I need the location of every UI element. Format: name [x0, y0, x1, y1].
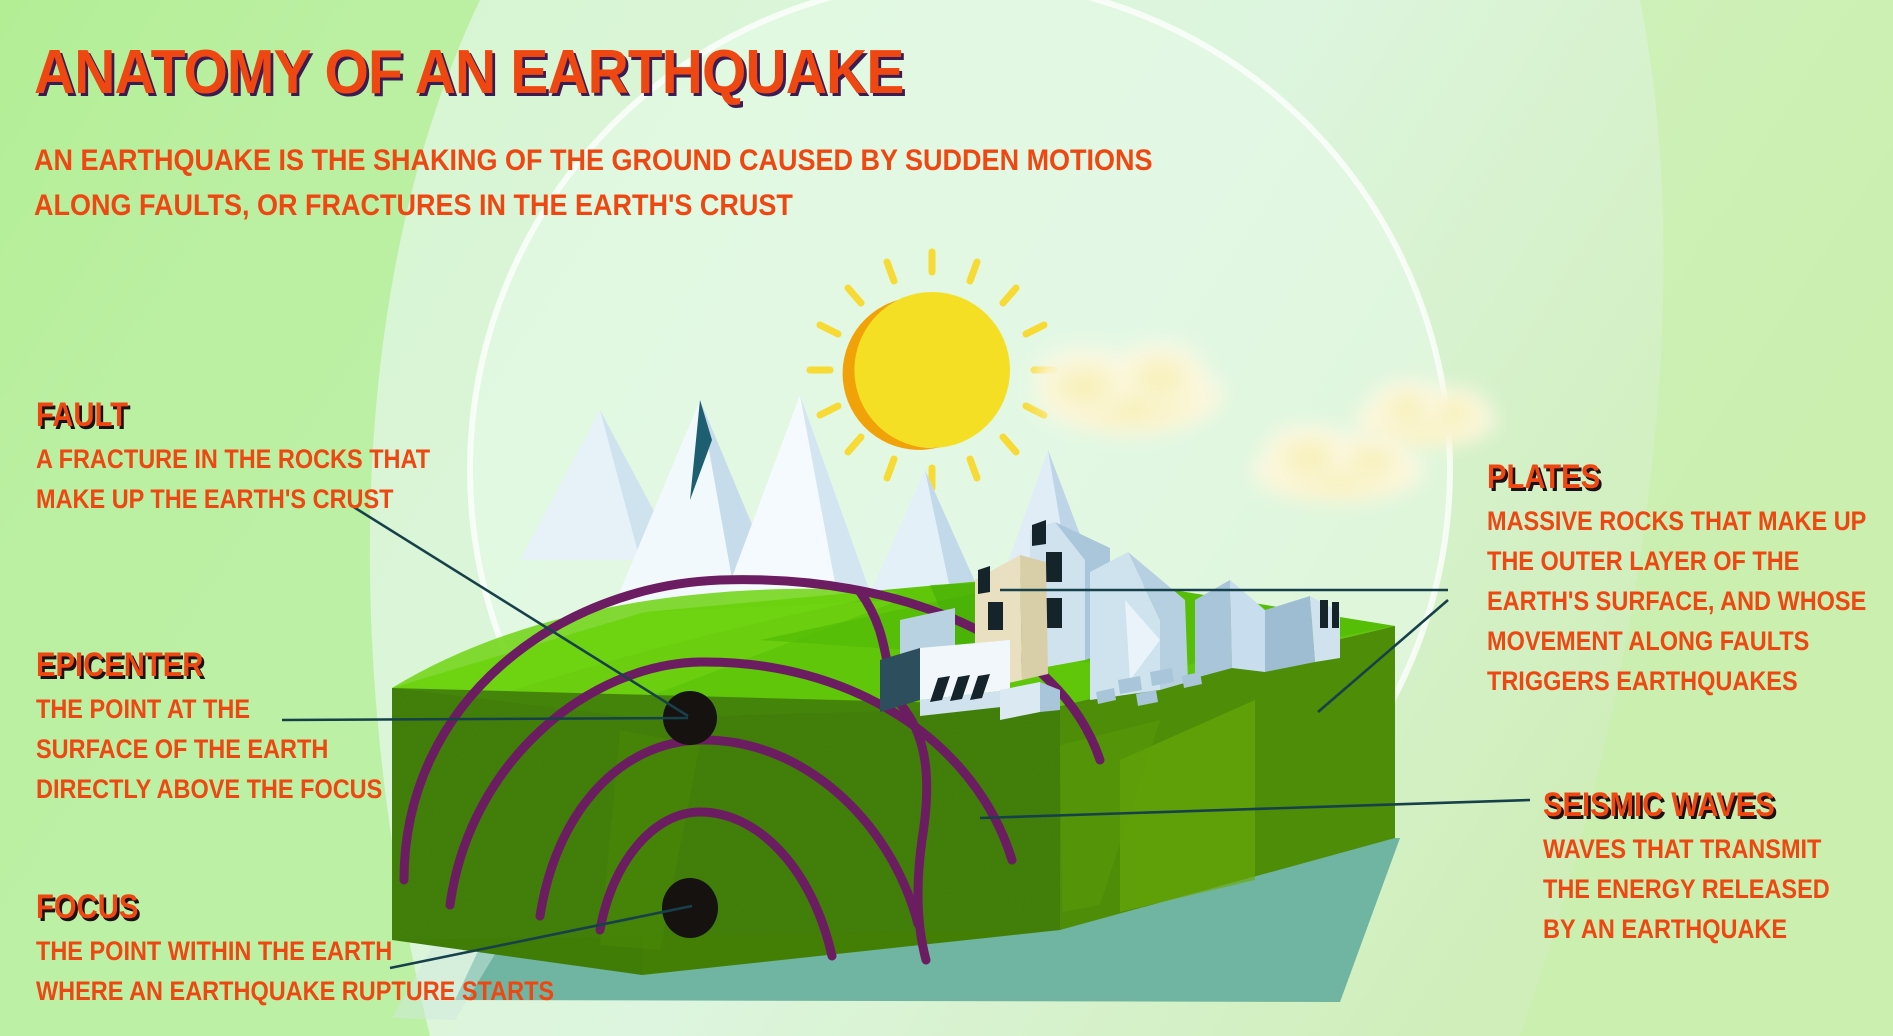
callout-fault-line-2: MAKE UP THE EARTH'S CRUST — [36, 480, 430, 520]
callout-plates-heading: PLATES — [1487, 460, 1862, 494]
callout-seismic-waves-body: WAVES THAT TRANSMIT THE ENERGY RELEASED … — [1543, 830, 1830, 950]
callout-plates-line-3: EARTH'S SURFACE, AND WHOSE — [1487, 582, 1866, 622]
callout-plates: PLATES MASSIVE ROCKS THAT MAKE UP THE OU… — [1487, 460, 1893, 702]
callout-fault-line-1: A FRACTURE IN THE ROCKS THAT — [36, 440, 430, 480]
callout-focus-heading: FOCUS — [36, 890, 548, 924]
callout-epicenter-line-1: THE POINT AT THE — [36, 690, 382, 730]
page-title: ANATOMY OF AN EARTHQUAKE — [34, 42, 903, 104]
callout-seismic-waves-line-1: WAVES THAT TRANSMIT — [1543, 830, 1830, 870]
callout-epicenter: EPICENTER THE POINT AT THE SURFACE OF TH… — [36, 648, 434, 810]
page-subtitle-line1: AN EARTHQUAKE IS THE SHAKING OF THE GROU… — [34, 140, 1153, 183]
callout-plates-body: MASSIVE ROCKS THAT MAKE UP THE OUTER LAY… — [1487, 502, 1866, 702]
callout-fault-body: A FRACTURE IN THE ROCKS THAT MAKE UP THE… — [36, 440, 430, 520]
cloud-icon — [1033, 340, 1225, 435]
callout-focus-line-2: WHERE AN EARTHQUAKE RUPTURE STARTS — [36, 972, 554, 1012]
focus-dot — [662, 878, 718, 938]
callout-fault-heading: FAULT — [36, 398, 426, 432]
callout-seismic-waves-heading: SEISMIC WAVES — [1543, 788, 1826, 822]
page-subtitle-line2: ALONG FAULTS, OR FRACTURES IN THE EARTH'… — [34, 185, 793, 228]
callout-fault: FAULT A FRACTURE IN THE ROCKS THAT MAKE … — [36, 398, 489, 520]
callout-plates-line-4: MOVEMENT ALONG FAULTS — [1487, 622, 1866, 662]
callout-plates-line-5: TRIGGERS EARTHQUAKES — [1487, 662, 1866, 702]
callout-epicenter-line-2: SURFACE OF THE EARTH — [36, 730, 382, 770]
callout-epicenter-line-3: DIRECTLY ABOVE THE FOCUS — [36, 770, 382, 810]
callout-focus-line-1: THE POINT WITHIN THE EARTH — [36, 932, 554, 972]
callout-seismic-waves: SEISMIC WAVES WAVES THAT TRANSMIT THE EN… — [1543, 788, 1873, 950]
callout-epicenter-heading: EPICENTER — [36, 648, 378, 682]
callout-focus-body: THE POINT WITHIN THE EARTH WHERE AN EART… — [36, 932, 554, 1012]
callout-seismic-waves-line-3: BY AN EARTHQUAKE — [1543, 910, 1830, 950]
callout-seismic-waves-line-2: THE ENERGY RELEASED — [1543, 870, 1830, 910]
callout-plates-line-2: THE OUTER LAYER OF THE — [1487, 542, 1866, 582]
callout-epicenter-body: THE POINT AT THE SURFACE OF THE EARTH DI… — [36, 690, 382, 810]
callout-plates-line-1: MASSIVE ROCKS THAT MAKE UP — [1487, 502, 1866, 542]
callout-focus: FOCUS THE POINT WITHIN THE EARTH WHERE A… — [36, 890, 632, 1012]
infographic-canvas: ANATOMY OF AN EARTHQUAKE AN EARTHQUAKE I… — [0, 0, 1893, 1036]
